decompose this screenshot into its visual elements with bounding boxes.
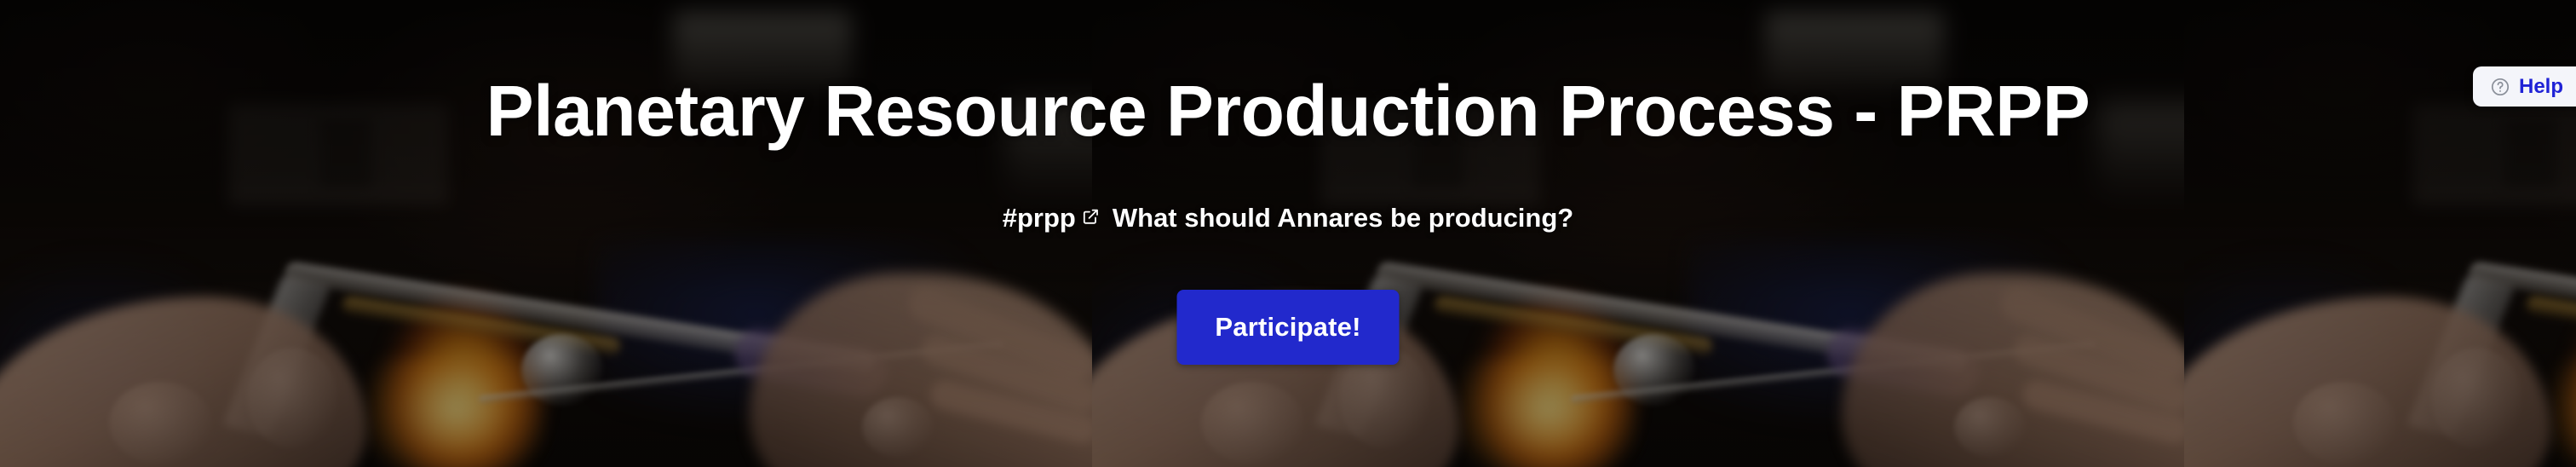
hero-content: Planetary Resource Production Process - … — [0, 0, 2576, 467]
hero-question: What should Annares be producing? — [1113, 205, 1573, 231]
external-link-icon — [1082, 208, 1099, 225]
hashtag-link[interactable]: #prpp — [1003, 205, 1099, 231]
question-circle-icon — [2490, 77, 2510, 97]
page-title: Planetary Resource Production Process - … — [0, 75, 2576, 147]
participate-button[interactable]: Participate! — [1177, 290, 1400, 365]
help-button[interactable]: Help — [2473, 66, 2576, 107]
help-label: Help — [2519, 77, 2563, 97]
hero-banner: Planetary Resource Production Process - … — [0, 0, 2576, 467]
hashtag-label: #prpp — [1003, 205, 1076, 231]
hero-subtitle: #prpp What should Annares be producing? — [0, 205, 2576, 231]
